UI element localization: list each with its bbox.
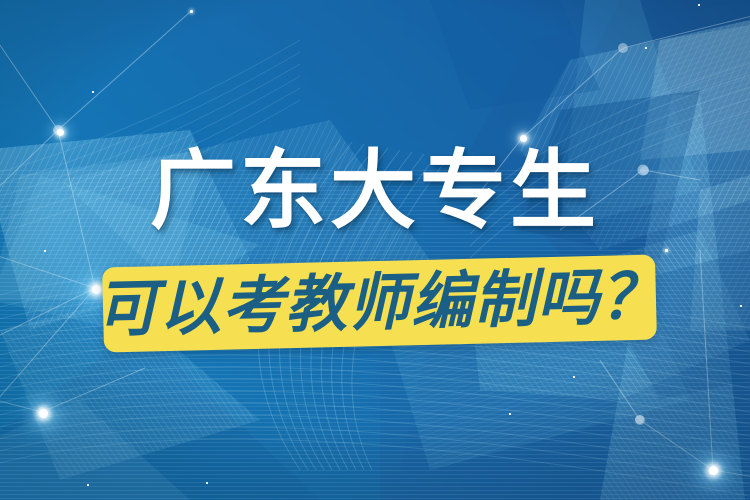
headline: 广东大专生 — [0, 148, 750, 234]
promo-banner: 广东大专生 可以考教师编制吗？ — [0, 0, 750, 500]
subheadline-banner: 可以考教师编制吗？ — [102, 254, 657, 352]
headline-text: 广东大专生 — [150, 148, 600, 234]
subheadline-text: 可以考教师编制吗？ — [95, 265, 663, 340]
background-graphic — [0, 0, 750, 500]
